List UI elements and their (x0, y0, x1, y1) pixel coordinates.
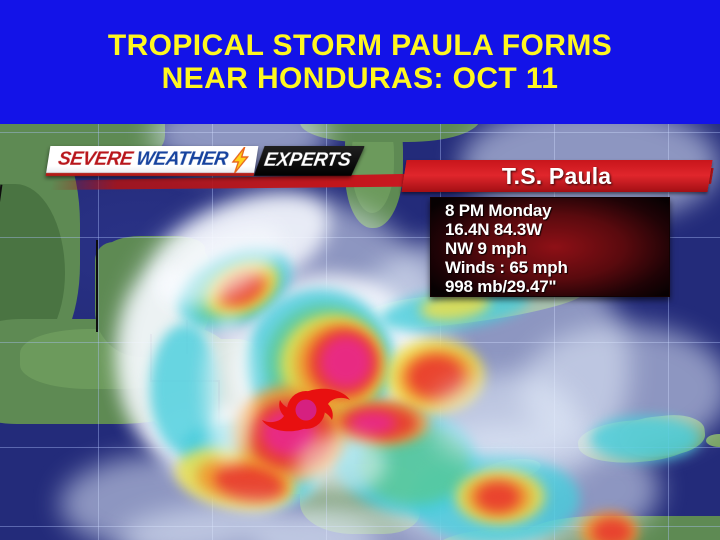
brand-black-plate: EXPERTS (254, 146, 365, 176)
storm-winds: Winds : 65 mph (445, 258, 669, 277)
cloud-wisp-spiral-2 (152, 209, 295, 323)
storm-name-bar: T.S. Paula (401, 160, 712, 192)
weather-graphic: SEVERE WEATHER EXPERTS T.S. Paula 8 PM M… (0, 0, 720, 540)
storm-data-panel: 8 PM Monday 16.4N 84.3W NW 9 mph Winds :… (430, 197, 670, 297)
headline-line-1: TROPICAL STORM PAULA FORMS (108, 29, 612, 62)
brand-weather-text: WEATHER (135, 149, 230, 171)
cloud-wisp-eye-ring (296, 434, 386, 494)
cloud-wisp-bottom (120, 504, 380, 540)
storm-pressure: 998 mb/29.47" (445, 277, 669, 296)
storm-name-label: T.S. Paula (502, 163, 611, 190)
storm-observation-time: 8 PM Monday (445, 201, 669, 220)
brand-severe-text: SEVERE (56, 149, 134, 171)
cloud-wisp-spiral-1 (205, 314, 253, 464)
storm-motion: NW 9 mph (445, 239, 669, 258)
cloud-wisp-se (430, 374, 580, 464)
headline-bar: TROPICAL STORM PAULA FORMS NEAR HONDURAS… (0, 0, 720, 124)
brand-experts-text: EXPERTS (262, 150, 352, 172)
tropical-storm-symbol-icon (258, 382, 354, 438)
headline-line-2: NEAR HONDURAS: OCT 11 (162, 62, 559, 95)
brand-white-plate: SEVERE WEATHER (46, 146, 259, 176)
severe-weather-experts-banner: SEVERE WEATHER EXPERTS (46, 146, 365, 176)
storm-position: 16.4N 84.3W (445, 220, 669, 239)
lightning-bolt-icon (227, 147, 253, 173)
